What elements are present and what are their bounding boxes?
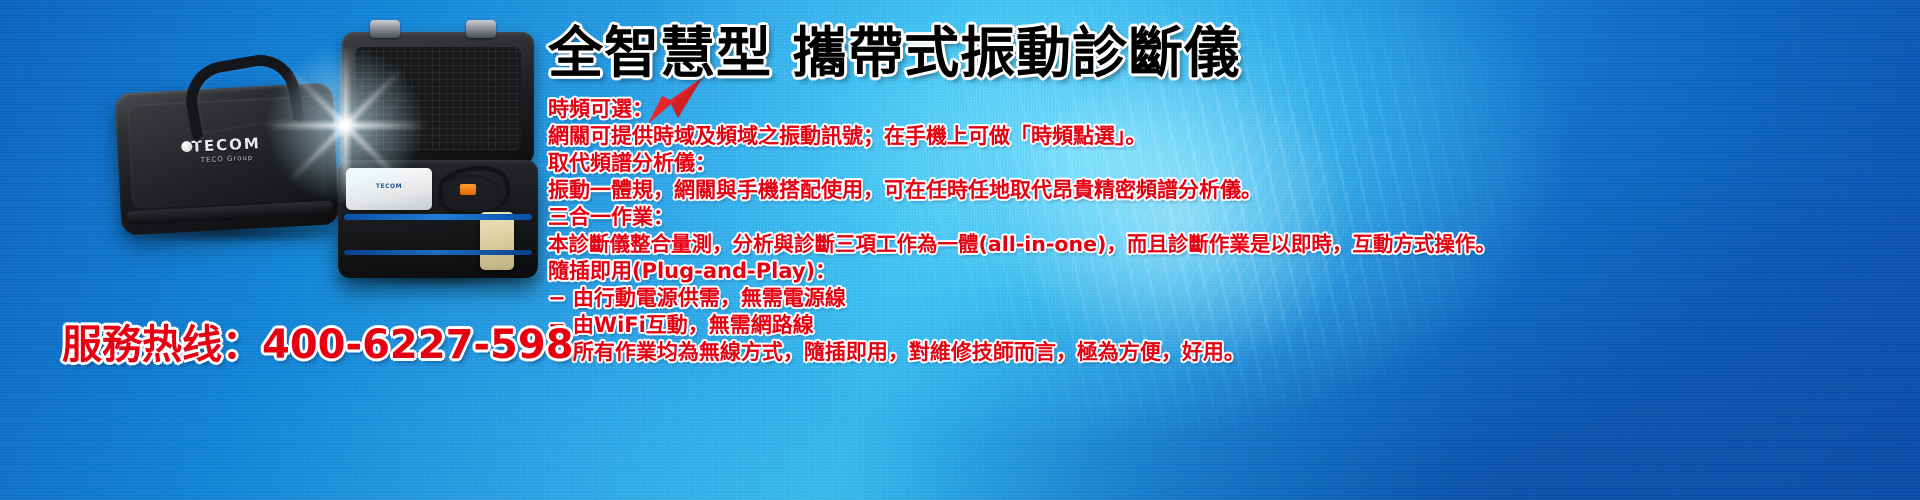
feature-heading-3: 三合一作業： [548,204,1920,231]
product-banner: TECOM TECO Group TECOM [0,0,1920,500]
gateway-label: TECOM [346,183,432,190]
vibration-sensor [480,212,514,270]
feature-detail-2: 振動一體規，網關與手機搭配使用，可在任時任地取代昂貴精密頻譜分析儀。 [548,177,1920,204]
case-lid [342,32,534,164]
page-title: 全智慧型 攜帶式振動診斷儀 [548,8,1240,88]
feature-heading-1: 時頻可選： [548,96,1920,123]
feature-bullet-3: − 所有作業均為無線方式，隨插即用，對維修技師而言，極為方便，好用。 [548,339,1920,366]
orange-connector [460,184,476,195]
feature-heading-4: 隨插即用(Plug-and-Play)： [548,258,1920,285]
latch-right-icon [466,20,496,38]
gateway-device: TECOM [346,168,432,210]
service-hotline: 服務热线：400-6227-598 [62,312,574,370]
feature-detail-3: 本診斷儀整合量測，分析與診斷三項工作為一體(all-in-one)，而且診斷作業… [548,231,1920,258]
case-blue-trim-lower [344,250,532,255]
case-base: TECOM [338,160,538,278]
feature-text-block: 時頻可選： 網關可提供時域及頻域之振動訊號；在手機上可做「時頻點選」。 取代頻譜… [548,96,1920,366]
feature-bullet-1: − 由行動電源供需，無需電源線 [548,285,1920,312]
case-blue-trim-upper [344,214,532,220]
foam-padding [355,47,521,150]
feature-bullet-2: − 由WiFi互動，無需網路線 [548,312,1920,339]
product-photo: TECOM TECO Group TECOM [0,0,540,500]
latch-left-icon [370,20,400,38]
open-carry-case: TECOM [338,26,538,276]
feature-detail-1: 網關可提供時域及頻域之振動訊號；在手機上可做「時頻點選」。 [548,123,1920,150]
feature-heading-2: 取代頻譜分析儀： [548,150,1920,177]
